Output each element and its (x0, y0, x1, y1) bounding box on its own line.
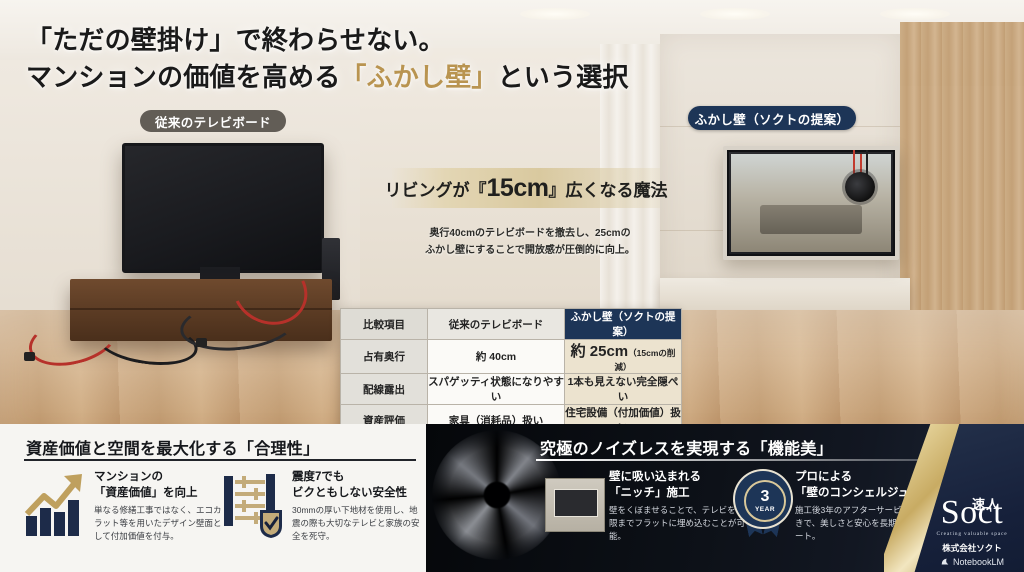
logo-kanji: 速人 (972, 494, 1000, 513)
badge-fukashi: ふかし壁（ソクトの提案） (688, 106, 856, 130)
title-highlight: 「ふかし壁」 (340, 62, 497, 92)
card-heading-line-1: 震度7でも (292, 470, 422, 486)
row-label-depth: 占有奥行 (341, 340, 428, 374)
cable-plug (24, 352, 35, 361)
company-logo: 速人 Soct Creating valuable space 株式会社ソクト … (920, 486, 1024, 572)
table-row: 占有奥行 約 40cm 約 25cm（15cmの削減） (341, 340, 682, 374)
card-body: 30mmの厚い下地材を使用し、地震の際も大切なテレビと家族の安全を死守。 (292, 504, 422, 544)
right-section-rule (536, 459, 936, 461)
row-label-wiring: 配線露出 (341, 374, 428, 405)
cable-port (845, 172, 875, 202)
logo-inner: 速人 Soct Creating valuable space 株式会社ソクト … (920, 496, 1024, 567)
table-header-conventional: 従来のテレビボード (428, 309, 565, 340)
left-section-heading: 資産価値と空間を最大化する「合理性」 (26, 435, 319, 459)
niche-photo-icon (545, 470, 607, 538)
card-heading-line-1: マンションの (94, 470, 224, 486)
card-heading: 壁に吸い込まれる 「ニッチ」施工 (609, 470, 745, 501)
banner-sub-line-2: ふかし壁にすることで開放感が圧倒的に向上。 (404, 243, 656, 260)
banner-number: 15cm (487, 174, 549, 202)
ceiling-light (520, 8, 590, 20)
card-body: 単なる修繕工事ではなく、エコカラット等を用いたデザイン壁面として付加価値を付与。 (94, 504, 224, 544)
fukashi-wall-tv (723, 146, 899, 260)
wood-panel (900, 22, 1024, 352)
logo-tagline: Creating valuable space (920, 531, 1024, 537)
poster-root: 「ただの壁掛け」で終わらせない。 マンションの価値を高める「ふかし壁」という選択… (0, 0, 1024, 572)
title-line-2-a: マンションの価値を高める (26, 62, 340, 92)
banner-text: リビングが『15cm』広くなる魔法 (385, 174, 668, 203)
left-section-rule (24, 459, 416, 461)
conventional-tv (122, 143, 324, 273)
table-header-proposal: ふかし壁（ソクトの提案） (565, 309, 682, 340)
notebooklm-watermark: NotebookLM (920, 557, 1024, 567)
center-banner: リビングが『15cm』広くなる魔法 (392, 168, 660, 208)
card-asset-value-text: マンションの 「資産価値」を向上 単なる修繕工事ではなく、エコカラット等を用いた… (94, 470, 224, 544)
logo-company-name: 株式会社ソクト (920, 542, 1024, 554)
ceiling-light (880, 8, 950, 20)
three-year-rosette-icon: 3 YEAR (733, 470, 795, 538)
card-safety-text: 震度7でも ビクともしない安全性 30mmの厚い下地材を使用し、地震の際も大切な… (292, 470, 422, 544)
card-heading-line-2: ビクともしない安全性 (292, 486, 422, 502)
row-proposal-wiring: 1本も見えない完全隠ぺい (565, 374, 682, 405)
banner-subtext: 奥行40cmのテレビボードを撤去し、25cmの ふかし壁にすることで開放感が圧倒… (404, 226, 656, 259)
floating-bench (660, 278, 910, 312)
notebooklm-label: NotebookLM (953, 557, 1004, 567)
cable-plug (196, 338, 207, 347)
wall-shield-icon (222, 470, 284, 538)
proposal-depth-value: 約 25cm (571, 343, 629, 360)
badge-conventional: 従来のテレビボード (140, 110, 286, 132)
card-body: 壁をくぼませることで、テレビを極限までフラットに埋め込むことが可能。 (609, 504, 745, 544)
row-proposal-depth: 約 25cm（15cmの削減） (565, 340, 682, 374)
table-header-row: 比較項目 従来のテレビボード ふかし壁（ソクトの提案） (341, 309, 682, 340)
banner-suffix: 』広くなる魔法 (548, 181, 667, 200)
row-conventional-wiring: スパゲッティ状態になりやすい (428, 374, 565, 405)
card-heading-line-2: 「資産価値」を向上 (94, 486, 224, 502)
rosette: 3 YEAR (735, 474, 791, 530)
card-heading-line-1: 壁に吸い込まれる (609, 470, 745, 486)
table-row: 配線露出 スパゲッティ状態になりやすい 1本も見えない完全隠ぺい (341, 374, 682, 405)
growth-chart-icon (24, 470, 86, 538)
title-line-1: 「ただの壁掛け」で終わらせない。 (26, 22, 726, 59)
right-section-heading: 究極のノイズレスを実現する「機能美」 (540, 435, 833, 459)
notebooklm-icon (940, 557, 950, 567)
title-line-2-b: という選択 (498, 62, 629, 92)
card-niche-text: 壁に吸い込まれる 「ニッチ」施工 壁をくぼませることで、テレビを極限までフラット… (609, 470, 745, 544)
banner-prefix: リビングが『 (385, 181, 487, 200)
comparison-table: 比較項目 従来のテレビボード ふかし壁（ソクトの提案） 占有奥行 約 40cm … (340, 308, 678, 436)
banner-sub-line-1: 奥行40cmのテレビボードを撤去し、25cmの (404, 226, 656, 243)
table-header-item: 比較項目 (341, 309, 428, 340)
page-title: 「ただの壁掛け」で終わらせない。 マンションの価値を高める「ふかし壁」という選択 (26, 22, 726, 96)
card-heading-line-2: 「ニッチ」施工 (609, 486, 745, 502)
rosette-number: 3 (761, 489, 770, 505)
row-conventional-depth: 約 40cm (428, 340, 565, 374)
card-heading: マンションの 「資産価値」を向上 (94, 470, 224, 501)
rosette-unit: YEAR (755, 506, 775, 513)
ceiling-light (700, 8, 770, 20)
niche-photo-thumb (545, 478, 605, 532)
rosette-inner: 3 YEAR (744, 480, 786, 522)
card-heading: 震度7でも ビクともしない安全性 (292, 470, 422, 501)
title-line-2: マンションの価値を高める「ふかし壁」という選択 (26, 59, 726, 96)
